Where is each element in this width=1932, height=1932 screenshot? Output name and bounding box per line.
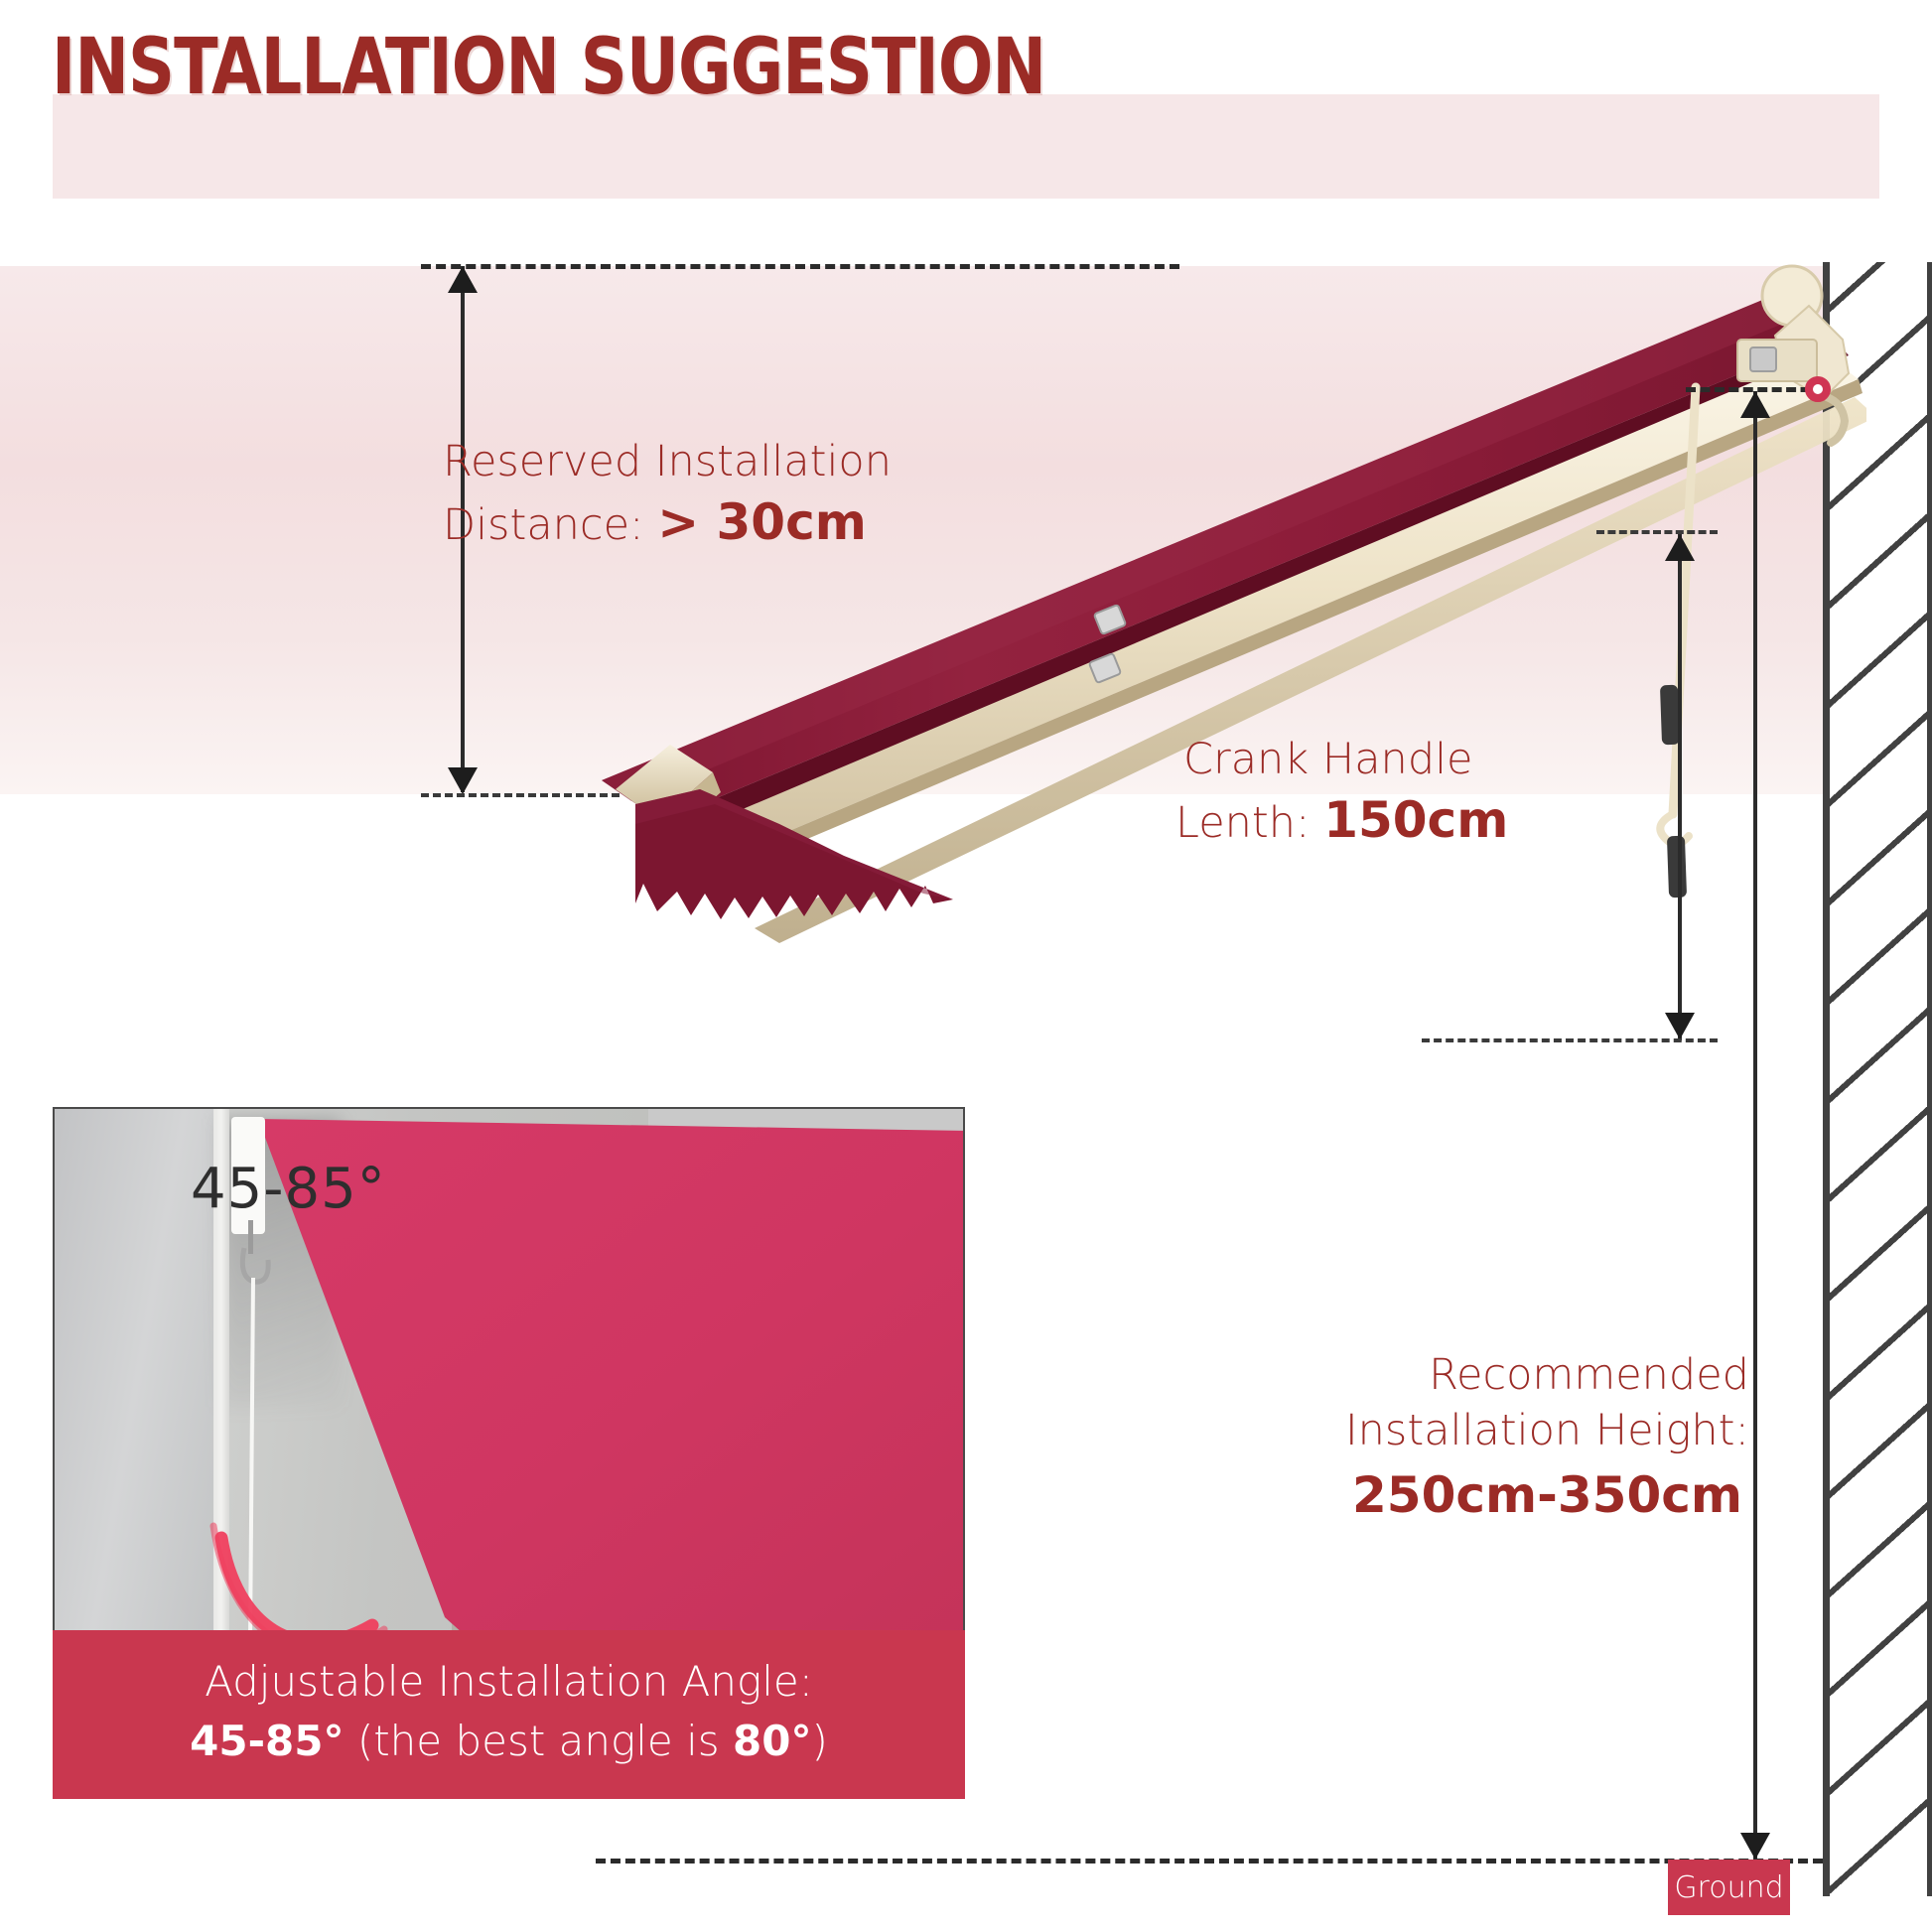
reserved-distance-label: Reserved Installation Distance: > 30cm [443,435,892,555]
reserved-distance-value: > 30cm [657,493,867,551]
recommended-height-value: 250cm-350cm [1345,1463,1749,1528]
crank-arrow-up [1665,534,1695,561]
angle-caption-text: Adjustable Installation Angle: 45-85° (t… [53,1652,965,1770]
page-title: INSTALLATION SUGGESTION [52,28,1045,109]
crank-handle-line1: Crank Handle [1183,735,1473,784]
crank-arrow-down [1665,1013,1695,1039]
banner-angle-range: 45-85° [190,1717,344,1765]
install-height-arrow-down [1740,1833,1770,1860]
banner-line1: Adjustable Installation Angle: [205,1657,813,1706]
reserved-distance-arrow-up [448,266,478,293]
install-height-line [1753,391,1757,1880]
recommended-height-label: Recommended Installation Height: 250cm-3… [1345,1348,1749,1528]
crank-bottom-dash [1422,1038,1718,1042]
install-height-arrow-up [1740,391,1770,418]
crank-handle-value: 150cm [1323,791,1508,849]
banner-mid-text: (the best angle is [344,1717,733,1765]
installation-suggestion-infographic: INSTALLATION SUGGESTION [0,0,1932,1932]
wall-mount-point-marker [1805,376,1831,402]
banner-end-text: ) [811,1717,827,1765]
recommended-height-line2: Installation Height: [1345,1406,1749,1455]
reserved-distance-bottom-dash [421,793,620,797]
wall-outer-edge [1927,262,1932,1896]
crank-handle-label: Crank Handle Lenth: 150cm [1183,733,1508,853]
recommended-height-line1: Recommended [1429,1350,1749,1400]
reserved-distance-top-dash [421,264,1179,269]
reserved-distance-arrow-down [448,767,478,794]
angle-caption-banner: Adjustable Installation Angle: 45-85° (t… [53,1630,965,1799]
ground-label: Ground [1668,1860,1790,1915]
reserved-distance-line2-prefix: Distance: [443,500,657,550]
crank-handle-line2-prefix: Lenth: [1175,798,1323,848]
crank-handle-line2: Lenth: 150cm [1175,788,1508,853]
crank-dimension-line [1678,534,1682,1040]
angle-overlay-label: 45-85° [191,1157,386,1221]
reserved-distance-line1: Reserved Installation [443,437,892,486]
ground-dash-line [596,1859,1823,1863]
crank-top-dash [1596,530,1718,534]
banner-best-angle: 80° [733,1717,811,1765]
